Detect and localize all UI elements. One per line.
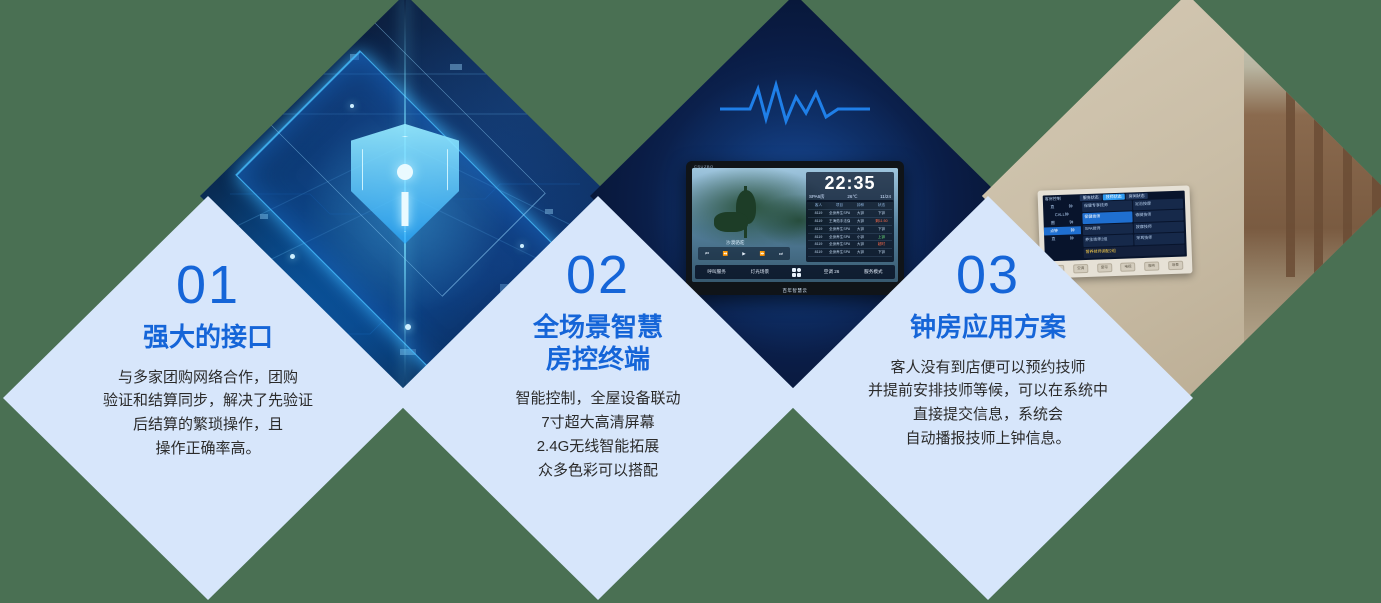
keyhole-icon	[397, 164, 413, 180]
wood-slat	[1314, 87, 1323, 277]
table-row: 8119 全身养生SPA 大钟 下钟	[808, 226, 892, 234]
grid-cell[interactable]: 按摩技师	[1134, 221, 1184, 233]
grid-cell[interactable]: 采耳技师	[1134, 233, 1184, 245]
plant	[1322, 322, 1374, 382]
heartbeat-waveform-icon	[720, 79, 870, 127]
col-item: 项目	[829, 202, 850, 209]
col-guest: 客人	[808, 202, 829, 209]
keyhole-stem	[402, 192, 409, 226]
table-row: 8119 全身养生SPA 小钟 上钟	[808, 234, 892, 242]
tab-technician-status[interactable]: 技师状态	[1103, 194, 1125, 201]
plant	[1274, 336, 1320, 390]
list-item: 直钟	[1044, 234, 1081, 243]
taskbar-light-scene[interactable]: 灯光场景	[749, 269, 771, 275]
col-type: 钟种	[850, 202, 871, 209]
service-list-header: 客人 项目 钟种 状态	[808, 202, 892, 210]
grid-cell[interactable]: 养生技师2组	[1083, 234, 1133, 246]
taskbar-air-conditioner[interactable]: 空调 26	[822, 269, 842, 275]
button-scene[interactable]: 场景	[1168, 261, 1183, 271]
tablet-bottom-logo: 百年智慧云	[686, 288, 904, 294]
table-row: 8119 全身养生SPA 大钟 超时	[808, 241, 892, 249]
grid-cell[interactable]: 保健专享技师	[1082, 200, 1132, 212]
grid-cell[interactable]: 足浴按摩	[1133, 199, 1183, 211]
panel-title: 钟房应用方案	[910, 312, 1066, 344]
spark	[405, 324, 411, 330]
tab-room-status[interactable]: 房间状态	[1126, 193, 1148, 200]
wall-panel-buttons[interactable]: 灯光 空调 窗帘 电视 服务 场景	[1046, 260, 1188, 274]
button-tv[interactable]: 电视	[1121, 262, 1136, 272]
play-icon[interactable]: ▶	[742, 251, 745, 257]
panel-number: 03	[956, 248, 1020, 302]
wood-slat	[1372, 99, 1381, 277]
island	[714, 212, 748, 232]
tab-service-status[interactable]: 服务状态	[1080, 194, 1102, 201]
panel-title: 强大的接口	[143, 322, 273, 354]
wall-panel-grid[interactable]: 保健专享技师 足浴按摩 保健技师 修脚技师 SPA技师 按摩技师 养生技师2组 …	[1080, 190, 1187, 260]
clock-time: 22:35	[809, 174, 891, 192]
spark	[350, 104, 354, 108]
tablet-device: CSUZBO 22:35 SPA6房 26℃ 11/24	[686, 161, 904, 295]
grid-cell-alert[interactable]: 营养技师调配2组	[1084, 244, 1185, 258]
app-grid-icon[interactable]	[792, 268, 801, 277]
grid-cell[interactable]: 修脚技师	[1134, 210, 1184, 222]
table-row: 8119 王海茹手法保健护理 大钟 剩11:50	[808, 218, 892, 226]
tablet-taskbar[interactable]: 呼叫服务 灯光场景 空调 26 服务模式	[695, 265, 895, 279]
button-curtain[interactable]: 窗帘	[1097, 263, 1112, 273]
rewind-icon[interactable]: ⏪	[723, 251, 729, 257]
panel-title: 全场景智慧 房控终端	[533, 312, 663, 375]
plant	[1305, 18, 1345, 66]
spark	[520, 244, 524, 248]
panel-body: 智能控制，全屋设备联动 7寸超大高清屏幕 2.4G无线智能拓展 众多色彩可以搭配	[515, 387, 680, 482]
panel-number: 01	[176, 258, 240, 312]
wall-panel-left-list[interactable]: 直钟 CALL钟 圈钟 点钟钟 直钟	[1043, 194, 1082, 261]
wood-slat	[1343, 91, 1352, 277]
table-row: 8119 全身养生SPA 大钟 下钟	[808, 249, 892, 257]
wall-control-panel[interactable]: 客房控制 服务状态 技师状态 房间状态 直钟 CALL钟 圈钟 点钟钟 直钟	[1038, 185, 1193, 278]
forward-icon[interactable]: ⏩	[760, 251, 766, 257]
spark	[290, 254, 295, 259]
feature-diamond-collage: CSUZBO 22:35 SPA6房 26℃ 11/24	[0, 0, 1381, 603]
media-controls[interactable]: ⏮ ⏪ ▶ ⏩ ⏭	[698, 247, 790, 260]
media-title: 沙漠骆驼	[726, 240, 744, 246]
next-icon[interactable]: ⏭	[779, 251, 783, 256]
grid-cell-selected[interactable]: 保健技师	[1083, 212, 1133, 224]
button-service[interactable]: 服务	[1144, 261, 1159, 271]
button-ac[interactable]: 空调	[1073, 264, 1088, 274]
clock-widget: 22:35 SPA6房 26℃ 11/24	[806, 172, 894, 202]
wall-panel-screen[interactable]: 客房控制 服务状态 技师状态 房间状态 直钟 CALL钟 圈钟 点钟钟 直钟	[1043, 190, 1187, 261]
wood-slat	[1286, 83, 1295, 277]
panel-number: 02	[566, 248, 630, 302]
wall-panel-title: 客房控制	[1045, 196, 1061, 203]
tablet-screen: 22:35 SPA6房 26℃ 11/24 客人 项目 钟种 状态	[692, 168, 898, 282]
service-list: 客人 项目 钟种 状态 8119 全身养生SPA 大钟 下钟 8119	[806, 200, 894, 262]
panel-body: 客人没有到店便可以预约技师 并提前安排技师等候，可以在系统中 直接提交信息，系统…	[868, 356, 1108, 451]
table-row: 8119 全身养生SPA 大钟 下钟	[808, 210, 892, 218]
taskbar-service-mode[interactable]: 服务模式	[862, 269, 884, 275]
grid-cell[interactable]: SPA技师	[1083, 223, 1133, 235]
taskbar-call-service[interactable]: 呼叫服务	[705, 269, 727, 275]
col-status: 状态	[871, 202, 892, 209]
prev-icon[interactable]: ⏮	[705, 251, 709, 256]
panel-body: 与多家团购网络合作，团购 验证和结算同步，解决了先验证 后结算的繁琐操作，且 操…	[103, 366, 313, 461]
